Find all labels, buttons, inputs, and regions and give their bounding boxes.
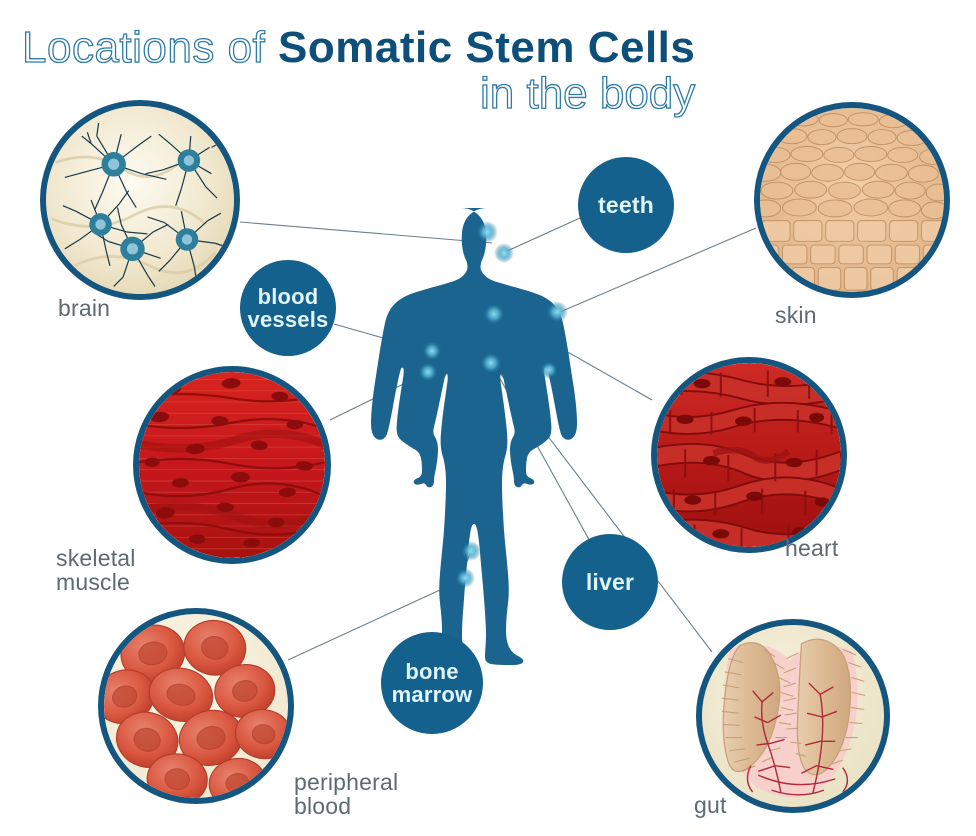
marker-blood-vessels bbox=[422, 341, 442, 361]
bubble-skeletal-muscle[interactable] bbox=[133, 366, 331, 564]
marker-bone-marrow bbox=[461, 541, 481, 561]
connector-teeth bbox=[505, 218, 580, 252]
caption-skin: skin bbox=[775, 303, 817, 327]
label-circle-teeth[interactable]: teeth bbox=[578, 157, 674, 253]
marker-brain bbox=[476, 221, 498, 243]
caption-gut: gut bbox=[694, 793, 727, 817]
label-circle-liver[interactable]: liver bbox=[562, 534, 658, 630]
skeletal-muscle-illustration bbox=[139, 372, 325, 558]
infographic-canvas: Locations of Somatic Stem Cells in the b… bbox=[0, 0, 976, 836]
bubble-heart[interactable] bbox=[651, 357, 847, 553]
marker-heart bbox=[483, 303, 505, 325]
bubble-skin[interactable] bbox=[754, 102, 950, 298]
bubble-gut[interactable] bbox=[696, 619, 890, 813]
caption-peripheral-blood: peripheral blood bbox=[294, 770, 398, 818]
marker-skeletal-muscle bbox=[418, 362, 438, 382]
label-blood-vessels-text: blood vessels bbox=[248, 285, 329, 331]
skin-tissue-illustration bbox=[760, 108, 944, 292]
marker-liver bbox=[480, 352, 502, 374]
marker-skin bbox=[546, 301, 568, 323]
caption-brain: brain bbox=[58, 296, 110, 320]
caption-heart: heart bbox=[785, 536, 838, 560]
marker-teeth bbox=[494, 243, 514, 263]
label-circle-blood-vessels[interactable]: blood vessels bbox=[240, 260, 336, 356]
caption-skeletal-muscle: skeletal muscle bbox=[56, 546, 136, 594]
gut-tissue-illustration bbox=[702, 625, 884, 807]
label-bone-marrow-text: bone marrow bbox=[392, 660, 473, 706]
brain-tissue-illustration bbox=[46, 106, 234, 294]
bubble-brain[interactable] bbox=[40, 100, 240, 300]
peripheral-blood-illustration bbox=[104, 614, 288, 798]
label-teeth-text: teeth bbox=[598, 193, 654, 217]
connector-brain bbox=[240, 222, 492, 243]
heart-tissue-illustration bbox=[657, 363, 841, 547]
marker-gut bbox=[540, 361, 558, 379]
human-body-silhouette bbox=[371, 208, 577, 665]
marker-peripheral-blood bbox=[455, 568, 475, 588]
label-circle-bone-marrow[interactable]: bone marrow bbox=[381, 632, 483, 734]
bubble-peripheral-blood[interactable] bbox=[98, 608, 294, 804]
label-liver-text: liver bbox=[586, 570, 634, 594]
